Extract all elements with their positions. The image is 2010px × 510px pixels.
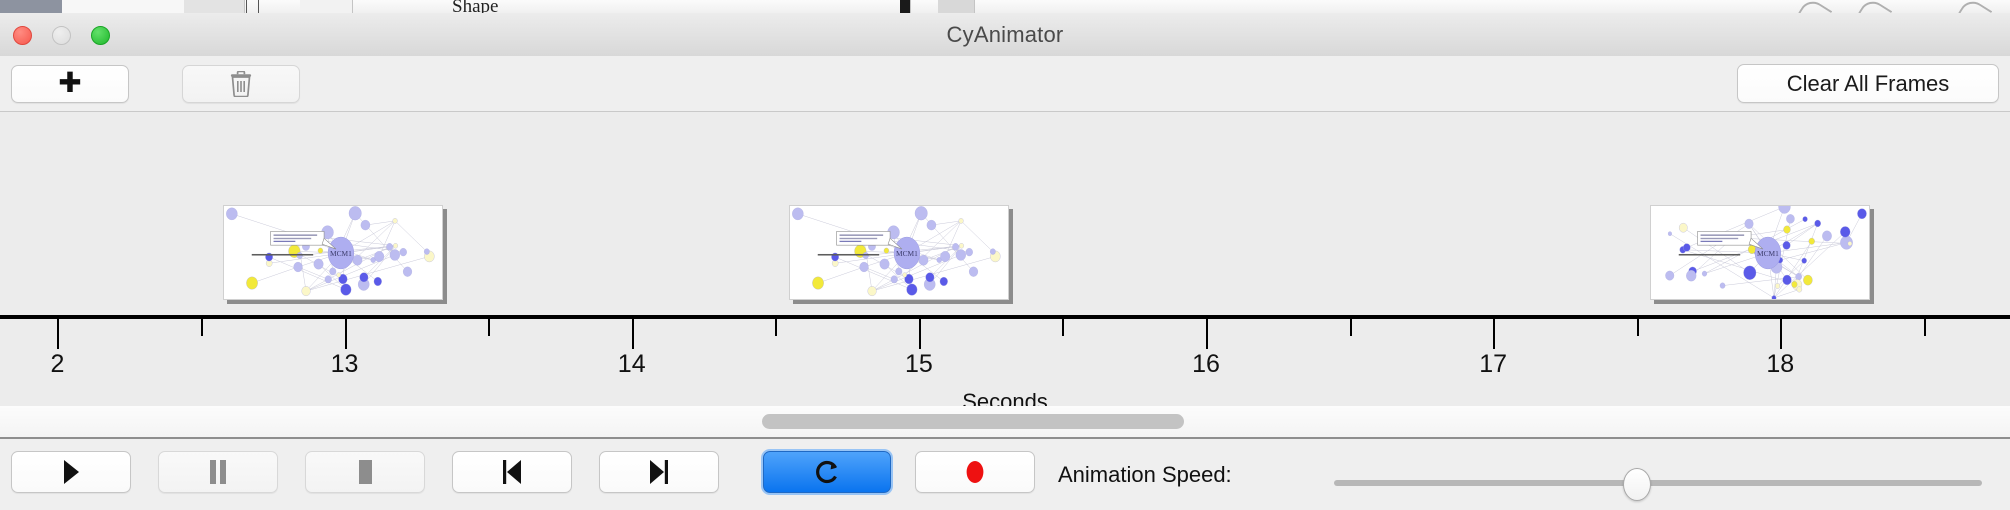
record-icon [963,458,987,486]
ruler-tick-major [919,319,921,349]
plus-icon: ✚ [58,69,81,97]
delete-frame-button[interactable] [182,65,300,103]
ruler-tick-major [1780,319,1782,349]
bg-chip [900,0,911,13]
timeline-scrollbar[interactable] [0,406,2010,439]
bg-chip [938,0,975,13]
frame-toolbar: ✚ Clear All Frames [0,56,2010,112]
loop-icon [814,458,840,486]
next-button[interactable] [599,451,719,493]
pause-icon [207,459,229,485]
ruler-tick-minor [1924,319,1926,336]
ruler-tick-label: 14 [618,350,646,379]
axis-title: Seconds [0,389,2010,407]
window-title: CyAnimator [0,13,2010,56]
title-bar[interactable]: CyAnimator [0,13,2010,57]
record-button[interactable] [915,451,1035,493]
ruler-tick-major [1206,319,1208,349]
playback-control-bar: Animation Speed: [0,439,2010,510]
frame-thumbnail[interactable]: MCM1 [1650,205,1870,300]
ruler-tick-label: 17 [1479,350,1507,379]
timeline-frame[interactable]: MCM1 [789,205,1009,300]
zoom-button[interactable] [91,26,110,45]
svg-text:MCM1: MCM1 [1757,249,1779,258]
timeline-panel[interactable]: MCM1MCM1MCM1 2131415161718 Seconds [0,112,2010,407]
ruler-tick-major [1493,319,1495,349]
skip-forward-icon [647,459,671,485]
svg-text:MCM1: MCM1 [896,249,918,258]
scrollbar-track[interactable] [0,406,2010,435]
background-app-strip: Shape [0,0,2010,14]
bg-strip-text: Shape [452,0,498,14]
pause-button[interactable] [158,451,278,493]
window-controls [13,26,110,45]
timeline-ruler: 2131415161718 Seconds [0,315,2010,407]
previous-button[interactable] [452,451,572,493]
frame-strip: MCM1MCM1MCM1 [0,112,2010,317]
timeline-frame[interactable]: MCM1 [1650,205,1870,300]
stop-icon [354,459,376,485]
scrollbar-thumb[interactable] [762,414,1184,429]
ruler-baseline [0,315,2010,319]
ruler-tick-label: 15 [905,350,933,379]
ruler-tick-minor [201,319,203,336]
stop-button[interactable] [305,451,425,493]
bg-chip [0,0,63,13]
animation-speed-label: Animation Speed: [1058,462,1232,488]
ruler-tick-label: 18 [1766,350,1794,379]
bg-chip [62,0,185,13]
ruler-tick-minor [1350,319,1352,336]
ruler-tick-major [57,319,59,349]
svg-text:MCM1: MCM1 [330,249,352,258]
ruler-tick-label: 16 [1192,350,1220,379]
play-icon [61,459,81,485]
minimize-button [52,26,71,45]
frame-thumbnail[interactable]: MCM1 [789,205,1009,300]
ruler-tick-major [632,319,634,349]
ruler-tick-label: 2 [50,350,64,379]
ruler-tick-minor [1062,319,1064,336]
animation-speed-slider-thumb[interactable] [1623,468,1651,501]
skip-back-icon [500,459,524,485]
close-button[interactable] [13,26,32,45]
ruler-tick-minor [1637,319,1639,336]
trash-icon [230,71,252,97]
play-button[interactable] [11,451,131,493]
animation-speed-slider-track[interactable] [1334,480,1982,486]
timeline-frame[interactable]: MCM1 [223,205,443,300]
ruler-tick-minor [775,319,777,336]
cyanimator-window: Shape CyAnimator ✚ Clear All Frames [0,0,2010,510]
add-frame-button[interactable]: ✚ [11,65,129,103]
ruler-tick-major [345,319,347,349]
clear-all-frames-button[interactable]: Clear All Frames [1737,64,1999,103]
bg-chip [300,0,353,13]
ruler-tick-minor [488,319,490,336]
bg-chip [184,0,245,13]
ruler-tick-label: 13 [331,350,359,379]
loop-button[interactable] [763,451,891,493]
frame-thumbnail[interactable]: MCM1 [223,205,443,300]
